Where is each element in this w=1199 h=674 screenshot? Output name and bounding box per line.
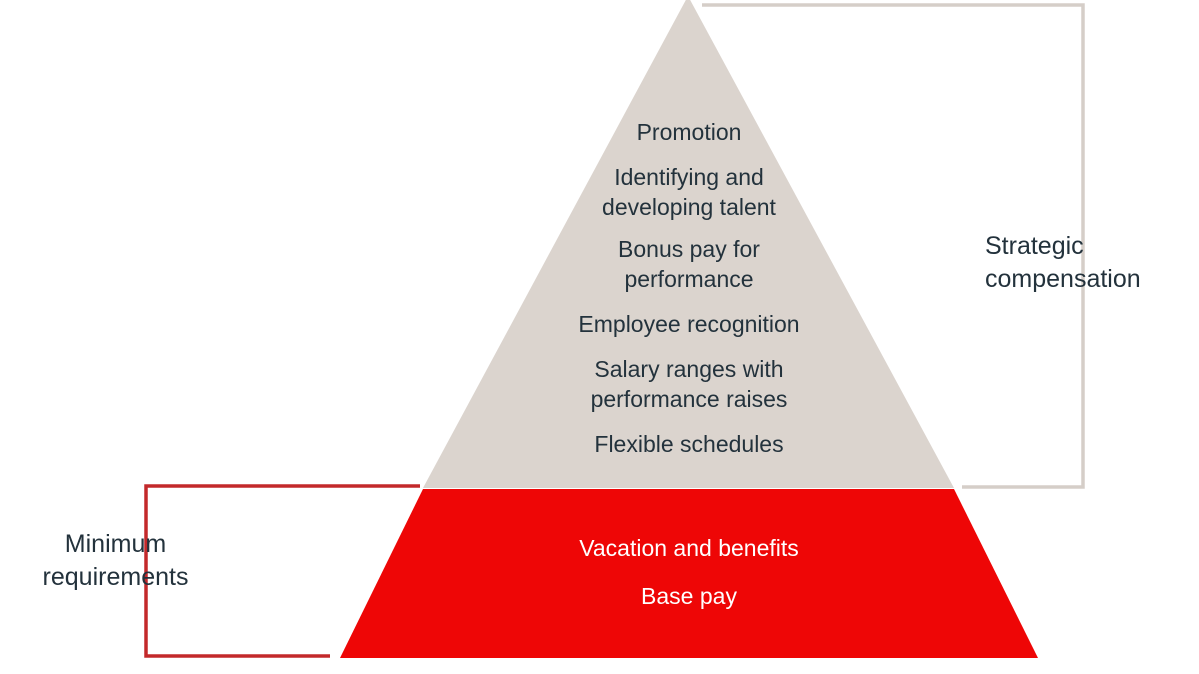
diagram-canvas: Promotion Identifying and developing tal… xyxy=(0,0,1199,674)
strategic-compensation-label: Strategic compensation xyxy=(985,230,1199,296)
pyramid-base-section xyxy=(340,489,1038,658)
pyramid-upper-section xyxy=(423,0,954,488)
minimum-requirements-label: Minimum requirements xyxy=(0,528,231,594)
